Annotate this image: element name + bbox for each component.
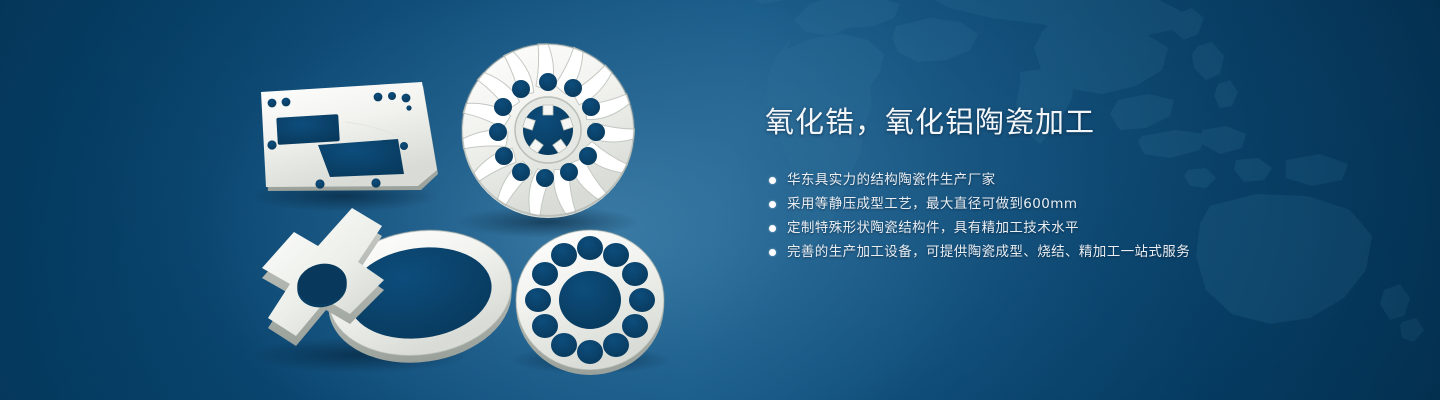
list-item: 定制特殊形状陶瓷结构件，具有精加工技术水平 <box>765 216 1385 240</box>
page-title: 氧化锆，氧化铝陶瓷加工 <box>765 104 1385 140</box>
list-item-label: 定制特殊形状陶瓷结构件，具有精加工技术水平 <box>787 216 1079 240</box>
promo-banner: 氧化锆，氧化铝陶瓷加工 华东具实力的结构陶瓷件生产厂家 采用等静压成型工艺，最大… <box>0 0 1440 400</box>
list-item-label: 采用等静压成型工艺，最大直径可做到600mm <box>787 192 1077 216</box>
feature-list: 华东具实力的结构陶瓷件生产厂家 采用等静压成型工艺，最大直径可做到600mm 定… <box>765 168 1385 264</box>
list-item-label: 完善的生产加工设备，可提供陶瓷成型、烧结、精加工一站式服务 <box>787 240 1190 264</box>
list-item: 采用等静压成型工艺，最大直径可做到600mm <box>765 192 1385 216</box>
bullet-dot-icon <box>769 177 776 184</box>
bullet-dot-icon <box>769 201 776 208</box>
bullet-dot-icon <box>769 225 776 232</box>
list-item: 华东具实力的结构陶瓷件生产厂家 <box>765 168 1385 192</box>
list-item-label: 华东具实力的结构陶瓷件生产厂家 <box>787 168 996 192</box>
list-item: 完善的生产加工设备，可提供陶瓷成型、烧结、精加工一站式服务 <box>765 240 1385 264</box>
bullet-dot-icon <box>769 249 776 256</box>
banner-copy: 氧化锆，氧化铝陶瓷加工 华东具实力的结构陶瓷件生产厂家 采用等静压成型工艺，最大… <box>765 104 1385 264</box>
